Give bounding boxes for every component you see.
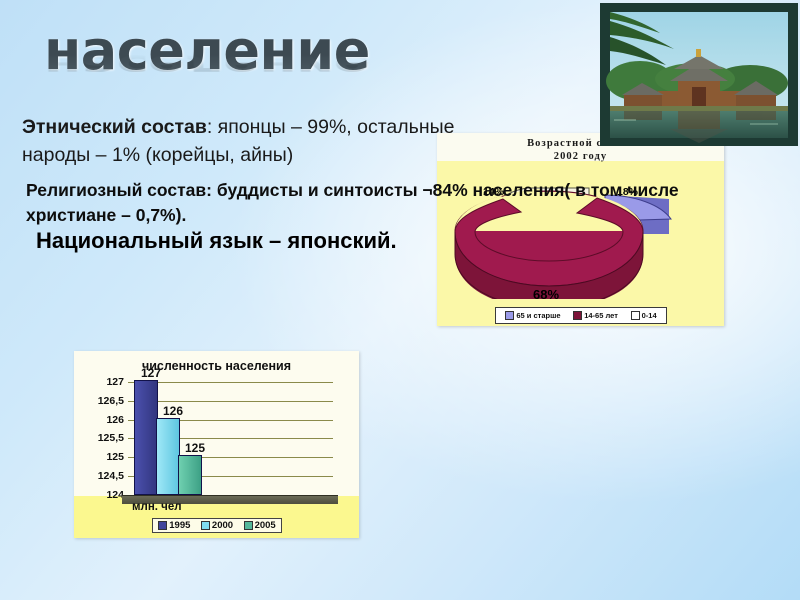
- bar-chart-legend: 1995 2000 2005: [152, 518, 282, 533]
- paragraph-ethnic-composition: Этнический состав: японцы – 99%, остальн…: [22, 113, 492, 170]
- bar-legend-item-1995: 1995: [158, 520, 190, 531]
- ytick-label-125: 125: [106, 451, 124, 463]
- bar-legend-label-1995: 1995: [169, 520, 190, 531]
- ytick-label-127: 127: [106, 376, 124, 388]
- pie-legend-label-0-14: 0-14: [642, 311, 657, 320]
- pie-legend-item-65-plus: 65 и старше: [505, 311, 560, 320]
- bar-chart-xaxis-label: млн. чел: [132, 501, 182, 513]
- bar-legend-swatch-1995: [158, 521, 167, 530]
- pie-legend-label-14-65: 14-65 лет: [584, 311, 618, 320]
- pie-chart-legend: 65 и старше 14-65 лет 0-14: [495, 307, 667, 324]
- pie-legend-label-65-plus: 65 и старше: [516, 311, 560, 320]
- bar-legend-label-2005: 2005: [255, 520, 276, 531]
- pie-legend-swatch-65-plus: [505, 311, 514, 320]
- ytick-label-124-5: 124,5: [98, 470, 124, 482]
- bar-chart-plot-area: 127 126,5 126 125,5 125 124,5 124: [128, 382, 333, 495]
- bar-legend-item-2005: 2005: [244, 520, 276, 531]
- pie-legend-item-0-14: 0-14: [631, 311, 657, 320]
- pie-legend-swatch-14-65: [573, 311, 582, 320]
- slide-canvas: население население Этнический состав: я…: [0, 0, 800, 600]
- gridline-127: 127: [128, 382, 333, 383]
- ytick-label-126: 126: [106, 414, 124, 426]
- bar-2000: [156, 418, 180, 495]
- bar-legend-swatch-2000: [201, 521, 210, 530]
- bar-1995: [134, 380, 158, 495]
- bar-2005: [178, 455, 202, 495]
- gridline-126-5: 126,5: [128, 401, 333, 402]
- pie-legend-swatch-0-14: [631, 311, 640, 320]
- bar-legend-swatch-2005: [244, 521, 253, 530]
- bar-value-2005: 125: [185, 441, 205, 455]
- ethnic-composition-lead: Этнический состав: [22, 116, 207, 138]
- bar-chart-title: численность населения: [74, 359, 359, 373]
- paragraph-national-language: Национальный язык – японский.: [36, 228, 397, 254]
- japanese-temple-photo: [600, 3, 798, 146]
- temple-photo-artwork: [600, 3, 798, 146]
- pie-legend-item-14-65: 14-65 лет: [573, 311, 618, 320]
- bar-legend-item-2000: 2000: [201, 520, 233, 531]
- bar-value-2000: 126: [163, 404, 183, 418]
- page-title-reflection: население: [44, 50, 464, 80]
- paragraph-religious-composition: Религиозный состав: буддисты и синтоисты…: [26, 178, 746, 229]
- pie-chart-panel: Возрастной состав 2002 году: [437, 133, 724, 326]
- bar-chart-panel: численность населения 127 126,5 126 125,…: [74, 351, 359, 538]
- pie-label-14-65: 68%: [533, 287, 559, 302]
- ytick-label-126-5: 126,5: [98, 395, 124, 407]
- bar-legend-label-2000: 2000: [212, 520, 233, 531]
- bar-value-1995: 127: [141, 366, 161, 380]
- ytick-label-125-5: 125,5: [98, 432, 124, 444]
